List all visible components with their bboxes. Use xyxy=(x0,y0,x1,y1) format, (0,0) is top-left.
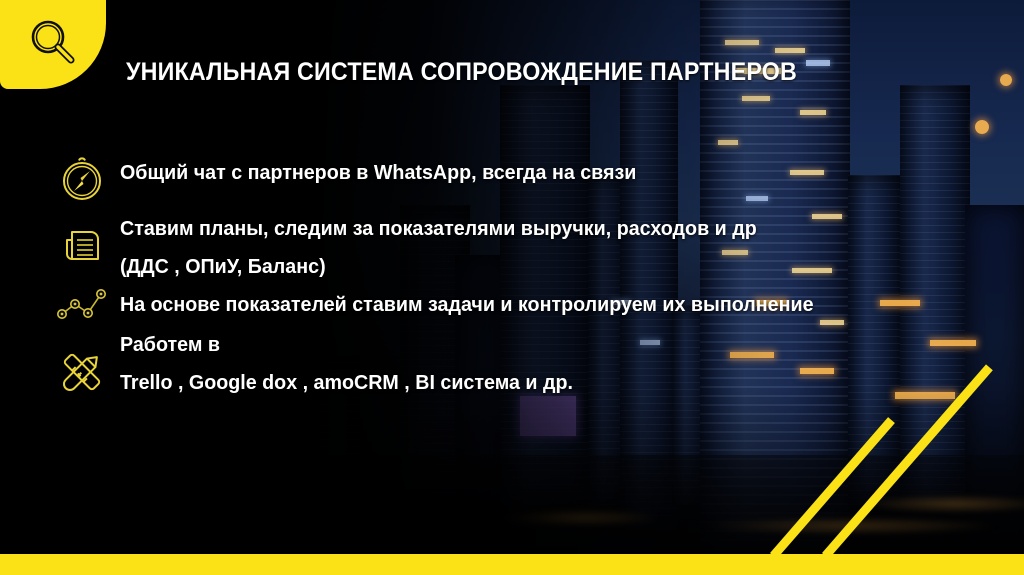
document-icon xyxy=(58,220,106,268)
line-chart-icon xyxy=(54,286,110,322)
pencil-ruler-icon-cell xyxy=(44,346,120,398)
list-item: Ставим планы, следим за показателями выр… xyxy=(44,208,984,284)
row-text: Общий чат с партнеров в WhatsApp, всегда… xyxy=(120,152,658,192)
feature-line: На основе показателей ставим задачи и ко… xyxy=(120,286,814,324)
feature-line: Общий чат с партнеров в WhatsApp, всегда… xyxy=(120,154,636,192)
compass-icon xyxy=(59,154,105,204)
slide-title: УНИКАЛЬНАЯ СИСТЕМА СОПРОВОЖДЕНИЕ ПАРТНЕР… xyxy=(126,58,797,87)
row-text: На основе показателей ставим задачи и ко… xyxy=(120,284,842,324)
feature-line: (ДДС , ОПиУ, Баланс) xyxy=(120,248,757,286)
list-item: Работем в Trello , Google dox , amoCRM ,… xyxy=(44,324,984,400)
bottom-shade-overlay xyxy=(0,385,1024,575)
feature-line: Работем в xyxy=(120,326,573,364)
line-chart-icon-cell xyxy=(44,286,120,322)
document-icon-cell xyxy=(44,220,120,268)
pencil-ruler-icon xyxy=(56,346,108,398)
feature-line: Ставим планы, следим за показателями выр… xyxy=(120,210,757,248)
presentation-slide: УНИКАЛЬНАЯ СИСТЕМА СОПРОВОЖДЕНИЕ ПАРТНЕР… xyxy=(0,0,1024,575)
feature-line: Trello , Google dox , amoCRM , BI систем… xyxy=(120,364,573,402)
yellow-bottom-bar xyxy=(0,554,1024,575)
feature-list: Общий чат с партнеров в WhatsApp, всегда… xyxy=(44,152,984,400)
list-item: Общий чат с партнеров в WhatsApp, всегда… xyxy=(44,152,984,208)
list-item: На основе показателей ставим задачи и ко… xyxy=(44,284,984,324)
compass-icon-cell xyxy=(44,154,120,204)
row-text: Ставим планы, следим за показателями выр… xyxy=(120,208,783,286)
row-text: Работем в Trello , Google dox , amoCRM ,… xyxy=(120,324,592,402)
magnifier-icon xyxy=(26,15,84,73)
